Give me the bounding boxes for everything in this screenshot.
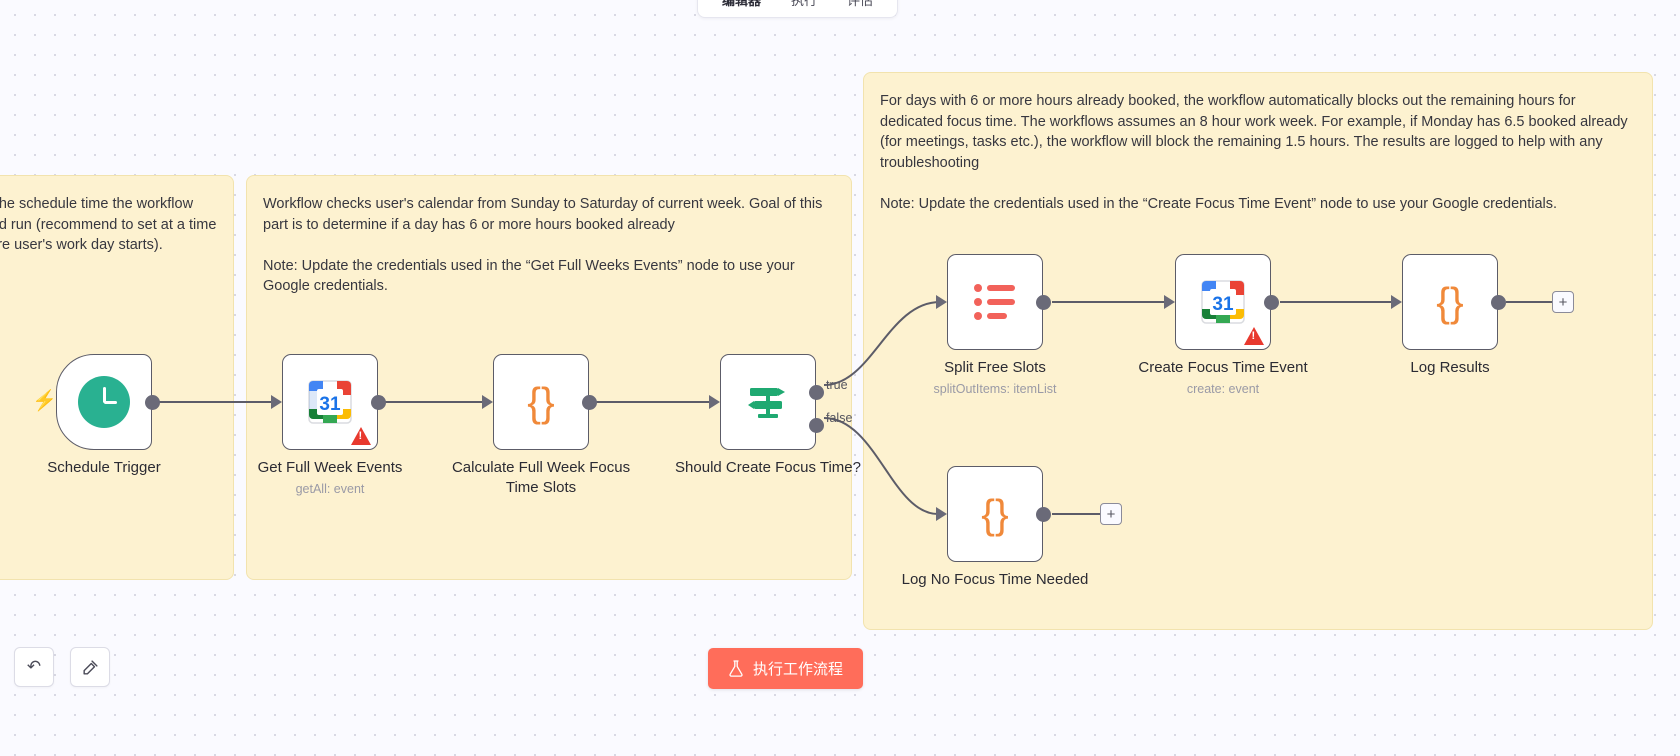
- svg-text:31: 31: [1212, 294, 1234, 315]
- node-label: Should Create Focus Time?: [673, 458, 863, 478]
- flask-icon: [728, 660, 744, 677]
- output-connector[interactable]: [1264, 295, 1279, 310]
- node-label: Log No Focus Time Needed: [900, 570, 1090, 590]
- node-log-no-focus-time-needed[interactable]: {} Log No Focus Time Needed: [947, 466, 1043, 562]
- node-create-focus-time-event[interactable]: 31 Create Focus Time Event create: event: [1175, 254, 1271, 350]
- code-braces-icon: {}: [527, 382, 554, 423]
- workflow-tabbar: 编辑器 执行 评估: [697, 0, 898, 18]
- tab-executions[interactable]: 执行: [777, 0, 831, 13]
- node-body[interactable]: {}: [493, 354, 589, 450]
- node-body[interactable]: {}: [947, 466, 1043, 562]
- node-label: Log Results: [1355, 358, 1545, 378]
- google-calendar-icon: 31: [1199, 278, 1247, 326]
- input-connector[interactable]: [1391, 295, 1402, 309]
- input-connector[interactable]: [271, 395, 282, 409]
- split-out-icon: [973, 283, 1017, 321]
- connection-label-true: true: [826, 378, 848, 392]
- execute-workflow-button[interactable]: 执行工作流程: [708, 648, 863, 689]
- add-node-button[interactable]: +: [1100, 503, 1122, 525]
- input-connector[interactable]: [936, 507, 947, 521]
- tidy-up-button[interactable]: [70, 647, 110, 687]
- google-calendar-icon: 31: [306, 378, 354, 426]
- node-body[interactable]: [720, 354, 816, 450]
- node-body[interactable]: [56, 354, 152, 450]
- svg-text:31: 31: [319, 394, 341, 415]
- warning-icon: [1244, 327, 1264, 345]
- tab-evaluations[interactable]: 评估: [833, 0, 887, 13]
- node-log-results[interactable]: {} Log Results: [1402, 254, 1498, 350]
- output-connector[interactable]: [1036, 507, 1051, 522]
- output-connector[interactable]: [582, 395, 597, 410]
- sticky-note-text: For days with 6 or more hours already bo…: [864, 73, 1652, 230]
- node-subtitle: create: event: [1123, 382, 1323, 396]
- tab-editor[interactable]: 编辑器: [708, 0, 775, 13]
- node-label: Get Full Week Events: [235, 458, 425, 478]
- output-connector-true[interactable]: [809, 385, 824, 400]
- sticky-note-text: Workflow checks user's calendar from Sun…: [247, 176, 851, 313]
- add-node-button[interactable]: +: [1552, 291, 1574, 313]
- node-label: Schedule Trigger: [9, 458, 199, 478]
- node-body[interactable]: [947, 254, 1043, 350]
- connection-label-false: false: [826, 411, 852, 425]
- execute-workflow-label: 执行工作流程: [753, 658, 843, 679]
- code-braces-icon: {}: [1436, 282, 1463, 323]
- undo-button[interactable]: ↶: [14, 647, 54, 687]
- node-get-full-week-events[interactable]: 31 Get Full Week Events getAll: event: [282, 354, 378, 450]
- node-schedule-trigger[interactable]: ⚡ Schedule Trigger: [56, 354, 152, 450]
- undo-icon: ↶: [27, 657, 41, 677]
- input-connector[interactable]: [936, 295, 947, 309]
- trigger-bolt-icon: ⚡: [32, 391, 57, 411]
- output-connector[interactable]: [1036, 295, 1051, 310]
- sticky-note-text: Set the schedule time the workflow would…: [0, 176, 233, 272]
- input-connector[interactable]: [709, 395, 720, 409]
- node-body[interactable]: 31: [282, 354, 378, 450]
- node-should-create-focus-time[interactable]: Should Create Focus Time?: [720, 354, 816, 450]
- node-calculate-focus-slots[interactable]: {} Calculate Full Week Focus Time Slots: [493, 354, 589, 450]
- node-body[interactable]: 31: [1175, 254, 1271, 350]
- node-label: Split Free Slots: [900, 358, 1090, 378]
- code-braces-icon: {}: [981, 494, 1008, 535]
- input-connector[interactable]: [1164, 295, 1175, 309]
- workflow-canvas[interactable]: 编辑器 执行 评估 Set the schedule time the work…: [0, 0, 1680, 756]
- node-body[interactable]: {}: [1402, 254, 1498, 350]
- node-label: Create Focus Time Event: [1128, 358, 1318, 378]
- clock-icon: [78, 376, 130, 428]
- node-subtitle: splitOutItems: itemList: [895, 382, 1095, 396]
- output-connector[interactable]: [145, 395, 160, 410]
- output-connector[interactable]: [371, 395, 386, 410]
- input-connector[interactable]: [482, 395, 493, 409]
- output-connector[interactable]: [1491, 295, 1506, 310]
- node-split-free-slots[interactable]: Split Free Slots splitOutItems: itemList: [947, 254, 1043, 350]
- warning-icon: [351, 427, 371, 445]
- node-label: Calculate Full Week Focus Time Slots: [446, 458, 636, 498]
- tidy-up-icon: [81, 658, 100, 677]
- node-subtitle: getAll: event: [230, 482, 430, 496]
- switch-icon: [745, 379, 791, 425]
- output-connector-false[interactable]: [809, 418, 824, 433]
